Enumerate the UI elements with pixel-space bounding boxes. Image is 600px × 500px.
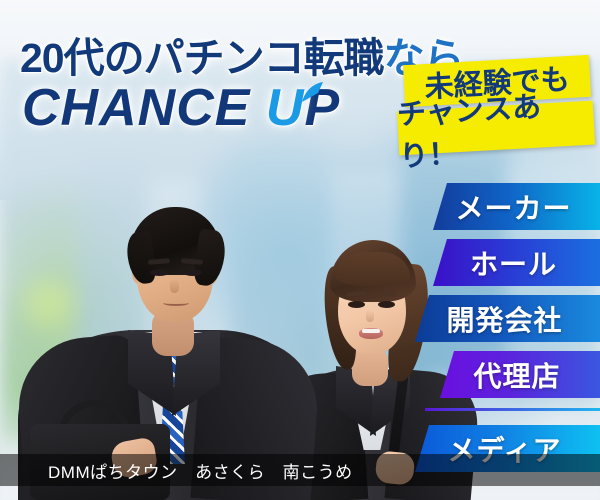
category-button-agency[interactable]: 代理店 [440, 351, 600, 398]
headline-main: 20代のパチンコ転職 [20, 35, 384, 81]
man-eye-right [183, 269, 202, 276]
man-nose [170, 279, 179, 293]
category-label-hall: ホール [470, 243, 563, 283]
logo-letter-p: P [304, 79, 340, 137]
headline: 20代のパチンコ転職なら [20, 24, 464, 84]
man-eye-left [150, 269, 169, 276]
logo-chance-up: CHANCE UP [22, 78, 340, 138]
category-button-hall[interactable]: ホール [433, 239, 600, 286]
category-label-dev: 開発会社 [446, 299, 568, 339]
woman-bangs [336, 252, 410, 286]
woman-teeth [362, 329, 380, 333]
badge-chance-label: チャンスあり！ [396, 81, 596, 176]
category-divider [425, 408, 600, 411]
category-label-maker: メーカー [455, 187, 577, 227]
credit-text: DMMぱちタウン あさくら 南こうめ [0, 458, 353, 483]
ad-banner[interactable]: 20代のパチンコ転職なら CHANCE UP 未経験でも チャンスあり！ メーカ… [0, 0, 600, 500]
woman-eye-right [378, 301, 395, 308]
bokeh-light [20, 275, 78, 333]
credit-bar: DMMぱちタウン あさくら 南こうめ [0, 454, 600, 486]
logo-letter-u: U [266, 79, 305, 137]
category-button-dev[interactable]: 開発会社 [415, 295, 600, 342]
woman-nose [366, 310, 374, 322]
man-mouth [163, 300, 189, 306]
category-label-agency: 代理店 [473, 355, 566, 395]
category-button-maker[interactable]: メーカー [433, 183, 600, 230]
logo-word-chance: CHANCE [22, 79, 250, 137]
badge-chance: チャンスあり！ [397, 101, 595, 156]
woman-eye-left [348, 301, 365, 308]
